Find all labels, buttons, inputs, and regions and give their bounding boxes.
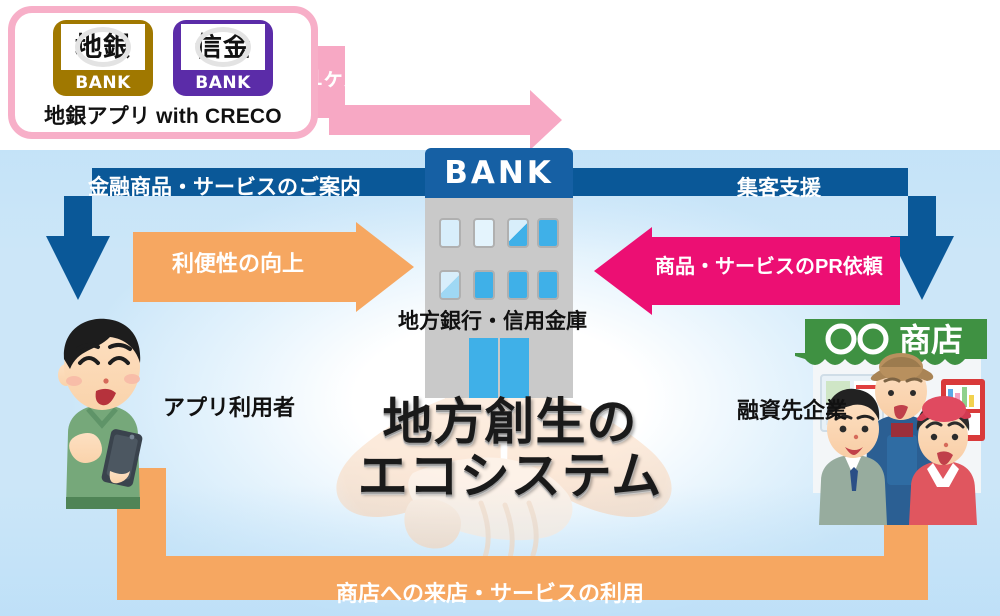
company-caption: 融資先企業 [737, 393, 847, 425]
shinkin-ring-icon [195, 27, 251, 67]
center-title-line1: 地方創生の [330, 395, 690, 449]
bank-window [439, 270, 461, 300]
bank-window [537, 218, 559, 248]
flow-label-store-visit: 商店への来店・サービスの利用 [336, 576, 644, 608]
flow-label-convenience: 利便性の向上 [172, 246, 304, 278]
chigin-ring-icon [75, 27, 131, 67]
bank-door-split [498, 338, 500, 398]
app-card-caption: 地銀アプリ with CRECO [44, 100, 282, 130]
bank-window [507, 270, 529, 300]
center-title: 地方創生の エコシステム [330, 395, 690, 503]
bank-window [473, 218, 495, 248]
bank-building: BANK [425, 148, 573, 398]
chigin-bank-word: BANK [75, 70, 131, 96]
bank-sign-label: BANK [444, 155, 554, 191]
chigin-logo-inner: 地銀 [61, 24, 145, 70]
center-title-line2: エコシステム [330, 449, 690, 503]
app-user-caption: アプリ利用者 [163, 390, 295, 422]
diagram-canvas: 地銀 BANK 信金 BANK 地銀アプリ with CRECO 1ヶ月程度で導… [0, 0, 1000, 616]
shinkin-logo-inner: 信金 [181, 24, 265, 70]
bank-window [507, 218, 529, 248]
shinkin-bank-logo: 信金 BANK [173, 20, 273, 96]
bank-window [439, 218, 461, 248]
shinkin-bank-word: BANK [195, 70, 251, 96]
chigin-bank-logo: 地銀 BANK [53, 20, 153, 96]
bank-caption: 地方銀行・信用金庫 [398, 305, 587, 335]
bank-window [537, 270, 559, 300]
bank-window [473, 270, 495, 300]
logo-row: 地銀 BANK 信金 BANK [53, 20, 273, 96]
flow-label-guidance: 金融商品・サービスのご案内 [88, 171, 361, 201]
flow-label-deploy: 1ヶ月程度で導入 [310, 60, 476, 92]
flow-label-pr-request: 商品・サービスのPR依頼 [655, 250, 883, 279]
bank-body [425, 198, 573, 398]
bank-sign: BANK [425, 148, 573, 198]
svg-text:商店: 商店 [899, 321, 963, 359]
app-user-illustration [40, 305, 170, 520]
flow-label-customer-support: 集客支援 [737, 172, 821, 202]
app-logo-card: 地銀 BANK 信金 BANK 地銀アプリ with CRECO [8, 6, 318, 139]
